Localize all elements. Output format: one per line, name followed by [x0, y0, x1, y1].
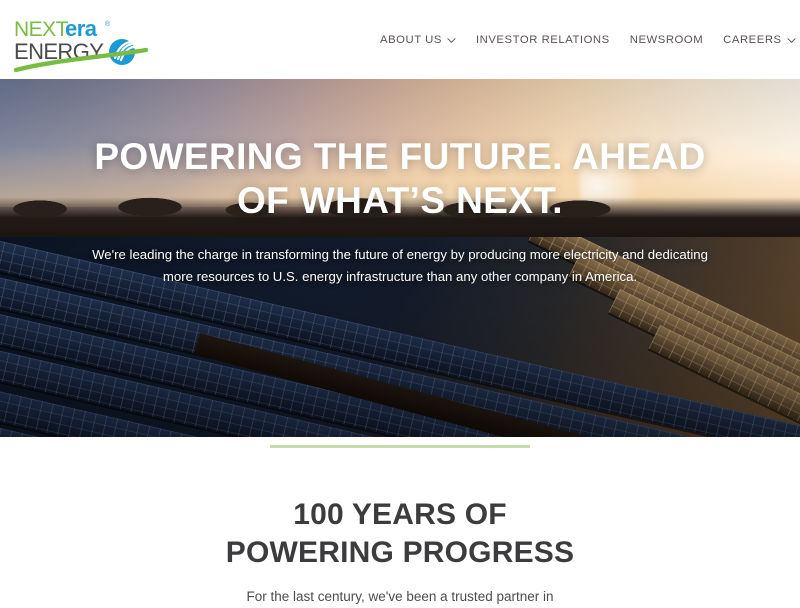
hero-banner: POWERING THE FUTURE. AHEAD OF WHAT’S NEX… — [0, 79, 800, 437]
svg-text:era: era — [65, 16, 98, 41]
nextera-energy-logo[interactable]: NEXT era ® ENERGY — [12, 14, 152, 72]
main-navigation[interactable]: ABOUT US INVESTOR RELATIONS NEWSROOM CAR… — [370, 0, 800, 79]
green-divider — [270, 445, 530, 448]
chevron-down-icon — [787, 36, 796, 45]
section-body-text: For the last century, we've been a trust… — [185, 587, 615, 608]
hero-title: POWERING THE FUTURE. AHEAD OF WHAT’S NEX… — [0, 135, 800, 222]
nav-item-label: ABOUT US — [380, 34, 442, 46]
site-header: NEXT era ® ENERGY ABOUT US INVESTOR RELA… — [0, 0, 800, 79]
section-title: 100 YEARS OF POWERING PROGRESS — [0, 496, 800, 573]
svg-text:NEXT: NEXT — [14, 18, 69, 41]
nav-item-label: NEWSROOM — [630, 34, 703, 46]
hero-copy: POWERING THE FUTURE. AHEAD OF WHAT’S NEX… — [0, 135, 800, 289]
hero-subtitle-line-1: We're leading the charge in transforming… — [92, 247, 644, 262]
nav-item-careers[interactable]: CAREERS — [713, 28, 800, 52]
nav-item-newsroom[interactable]: NEWSROOM — [620, 28, 713, 52]
chevron-down-icon — [447, 36, 456, 45]
nav-item-investor-relations[interactable]: INVESTOR RELATIONS — [466, 28, 620, 52]
hero-subtitle: We're leading the charge in transforming… — [90, 244, 710, 288]
logo-artwork: NEXT era ® ENERGY — [12, 14, 152, 72]
powering-progress-section: 100 YEARS OF POWERING PROGRESS For the l… — [0, 437, 800, 600]
nav-item-label: INVESTOR RELATIONS — [476, 34, 610, 46]
nav-item-label: CAREERS — [723, 34, 781, 46]
section-title-line-2: POWERING PROGRESS — [226, 536, 574, 569]
section-title-line-1: 100 YEARS OF — [293, 498, 507, 531]
svg-text:®: ® — [105, 20, 111, 28]
hero-title-line-2: OF WHAT’S NEXT. — [237, 180, 563, 221]
nav-item-about-us[interactable]: ABOUT US — [370, 28, 466, 52]
hero-title-line-1: POWERING THE FUTURE. AHEAD — [94, 136, 705, 177]
